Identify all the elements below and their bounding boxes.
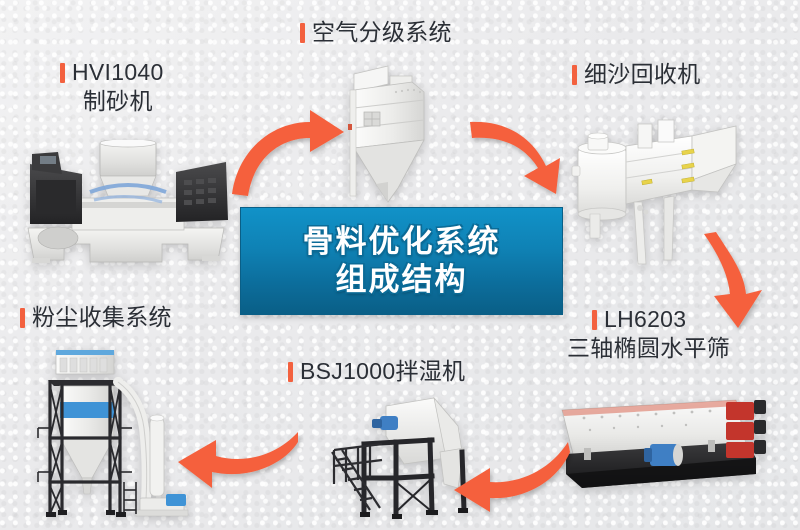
label-text-line1: 细沙回收机	[584, 61, 701, 87]
label-fine-sand-recycler: 细沙回收机	[572, 60, 701, 89]
label-text-line1: LH6203	[604, 306, 686, 332]
label-text-line2: 制砂机	[60, 87, 164, 116]
label-marker-bar	[592, 310, 597, 330]
label-marker-bar	[300, 23, 305, 43]
label-dust-collection-system: 粉尘收集系统	[20, 303, 172, 332]
label-marker-bar	[20, 308, 25, 328]
label-hvi1040: HVI1040 制砂机	[60, 58, 164, 117]
arrow-mixer-to-dust	[168, 412, 298, 492]
arrow-air-to-fine	[470, 108, 580, 196]
label-marker-bar	[572, 65, 577, 85]
triaxial-horizontal-screen-photo	[540, 392, 798, 524]
label-text-line1: HVI1040	[72, 59, 164, 85]
center-title-line2: 组成结构	[336, 261, 468, 299]
label-marker-bar	[60, 63, 65, 83]
label-marker-bar	[288, 362, 293, 382]
arrow-screen-to-mixer	[440, 428, 570, 518]
center-title-line1: 骨料优化系统	[303, 223, 501, 261]
label-text-line1: 空气分级系统	[312, 19, 452, 45]
dust-collection-system-photo	[32, 342, 190, 528]
air-classifier-photo	[332, 62, 448, 208]
label-text-line1: BSJ1000拌湿机	[300, 358, 465, 384]
arrow-hvi-to-air	[228, 108, 348, 198]
vsi-sand-maker-photo	[12, 140, 240, 268]
label-lh6203: LH6203 三轴椭圆水平筛	[592, 305, 730, 364]
label-bsj1000: BSJ1000拌湿机	[288, 357, 465, 386]
label-air-classifier: 空气分级系统	[300, 18, 452, 47]
label-text-line1: 粉尘收集系统	[32, 304, 172, 330]
label-text-line2: 三轴椭圆水平筛	[567, 334, 730, 363]
center-title-box: 骨料优化系统 组成结构	[240, 207, 563, 315]
diagram-canvas: HVI1040 制砂机 空气分级系统 细沙回收机 LH6203 三轴椭圆水平筛 …	[0, 0, 800, 530]
